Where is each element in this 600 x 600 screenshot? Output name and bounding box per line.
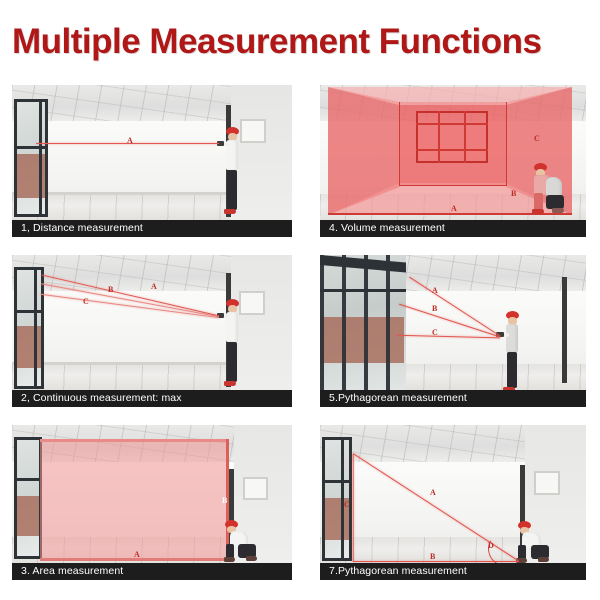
exterior-brick bbox=[17, 326, 41, 368]
label-a: A bbox=[134, 551, 140, 559]
torso-grey-shirt bbox=[506, 324, 518, 352]
window-mullion-3 bbox=[438, 111, 440, 163]
shoe-back bbox=[538, 557, 549, 562]
window-mullion-vertical bbox=[341, 440, 344, 558]
exterior-brick bbox=[17, 496, 39, 536]
legs-crouched bbox=[546, 195, 564, 209]
photo-pythagorean-triangle-scene: A B C D bbox=[320, 425, 586, 580]
label-b: B bbox=[430, 553, 435, 561]
wall-notice-board bbox=[243, 477, 268, 500]
photo-continuous-scene: A B C bbox=[12, 255, 292, 407]
operator-standing bbox=[222, 127, 244, 222]
operator-crouching bbox=[532, 163, 566, 215]
legs-dark-trousers bbox=[507, 352, 517, 388]
page-title: Multiple Measurement Functions bbox=[12, 22, 590, 62]
product-feature-infographic: Multiple Measurement Functions bbox=[0, 0, 600, 600]
window-frame-outline bbox=[416, 111, 488, 163]
panel-pythagorean-measurement-7[interactable]: A B C D 7.Pythagorean measurement bbox=[320, 425, 586, 580]
label-b: B bbox=[222, 497, 227, 505]
legs-dark-trousers bbox=[227, 170, 237, 210]
panel-pythagorean-measurement-5[interactable]: A B C 5.Pythagorean measurement bbox=[320, 255, 586, 407]
shoe-left bbox=[224, 209, 236, 214]
shoe-left bbox=[224, 381, 236, 386]
panel-caption: 3. Area measurement bbox=[12, 563, 292, 580]
panel-caption: 5.Pythagorean measurement bbox=[320, 390, 586, 407]
label-d: D bbox=[488, 542, 494, 550]
panel-caption: 1, Distance measurement bbox=[12, 220, 292, 237]
legs-dark-trousers bbox=[227, 342, 237, 382]
window-mullion-1 bbox=[416, 123, 488, 125]
panel-volume-measurement[interactable]: A B C 4. Volume measurement bbox=[320, 85, 586, 237]
label-a: A bbox=[451, 205, 457, 213]
window-left bbox=[322, 437, 352, 561]
window-mullion-horizontal bbox=[17, 310, 41, 313]
window-mullion-2 bbox=[416, 149, 488, 151]
operator-standing bbox=[222, 299, 244, 394]
photo-pythagorean-scene: A B C bbox=[320, 255, 586, 407]
volume-edge-back-right bbox=[506, 102, 507, 186]
operator-standing bbox=[502, 311, 524, 397]
window-mullion-4 bbox=[464, 111, 466, 163]
shoe-back bbox=[552, 208, 564, 213]
label-b: B bbox=[108, 286, 113, 294]
label-a: A bbox=[127, 137, 133, 145]
curtain-wall-mullions-vertical bbox=[320, 255, 406, 395]
curtain-wall-mullion-horizontal bbox=[320, 289, 406, 292]
window-left bbox=[14, 267, 44, 389]
window-mullion-horizontal bbox=[325, 480, 349, 483]
panel-caption: 2, Continuous measurement: max bbox=[12, 390, 292, 407]
panel-continuous-measurement[interactable]: A B C 2, Continuous measurement: max bbox=[12, 255, 292, 407]
shoe-back bbox=[246, 556, 257, 561]
volume-edge-floor-back bbox=[399, 185, 507, 186]
panel-area-measurement[interactable]: A B 3. Area measurement bbox=[12, 425, 292, 580]
photo-distance-scene: A bbox=[12, 85, 292, 237]
photo-area-scene: A B bbox=[12, 425, 292, 580]
window-left bbox=[14, 437, 42, 559]
photo-volume-scene: A B C bbox=[320, 85, 586, 237]
torso-back bbox=[546, 177, 562, 197]
label-c: C bbox=[432, 329, 438, 337]
label-a: A bbox=[432, 287, 438, 295]
label-b: B bbox=[511, 190, 516, 198]
shoe-front bbox=[532, 209, 544, 214]
wall-notice-board bbox=[534, 471, 560, 495]
area-highlight-fill bbox=[40, 439, 228, 561]
label-c: C bbox=[534, 135, 540, 143]
label-c: C bbox=[344, 501, 350, 509]
shoe-front bbox=[224, 557, 235, 562]
label-a: A bbox=[151, 283, 157, 291]
operator-crouching bbox=[224, 520, 258, 564]
label-c: C bbox=[83, 298, 89, 306]
panel-distance-measurement[interactable]: A 1, Distance measurement bbox=[12, 85, 292, 237]
label-b: B bbox=[432, 305, 437, 313]
panel-grid: A 1, Distance measurement bbox=[0, 82, 600, 592]
window-mullion-vertical bbox=[39, 102, 42, 214]
window-left bbox=[14, 99, 48, 217]
window-mullion-vertical bbox=[34, 270, 37, 386]
window-mullion-horizontal bbox=[17, 478, 39, 481]
laser-line-c-vertical bbox=[352, 454, 353, 562]
panel-caption: 7.Pythagorean measurement bbox=[320, 563, 586, 580]
door-frame bbox=[562, 277, 567, 383]
panel-caption: 4. Volume measurement bbox=[320, 220, 586, 237]
area-edge-top bbox=[40, 439, 228, 442]
volume-edge-back-left bbox=[399, 102, 400, 186]
label-a: A bbox=[430, 489, 436, 497]
